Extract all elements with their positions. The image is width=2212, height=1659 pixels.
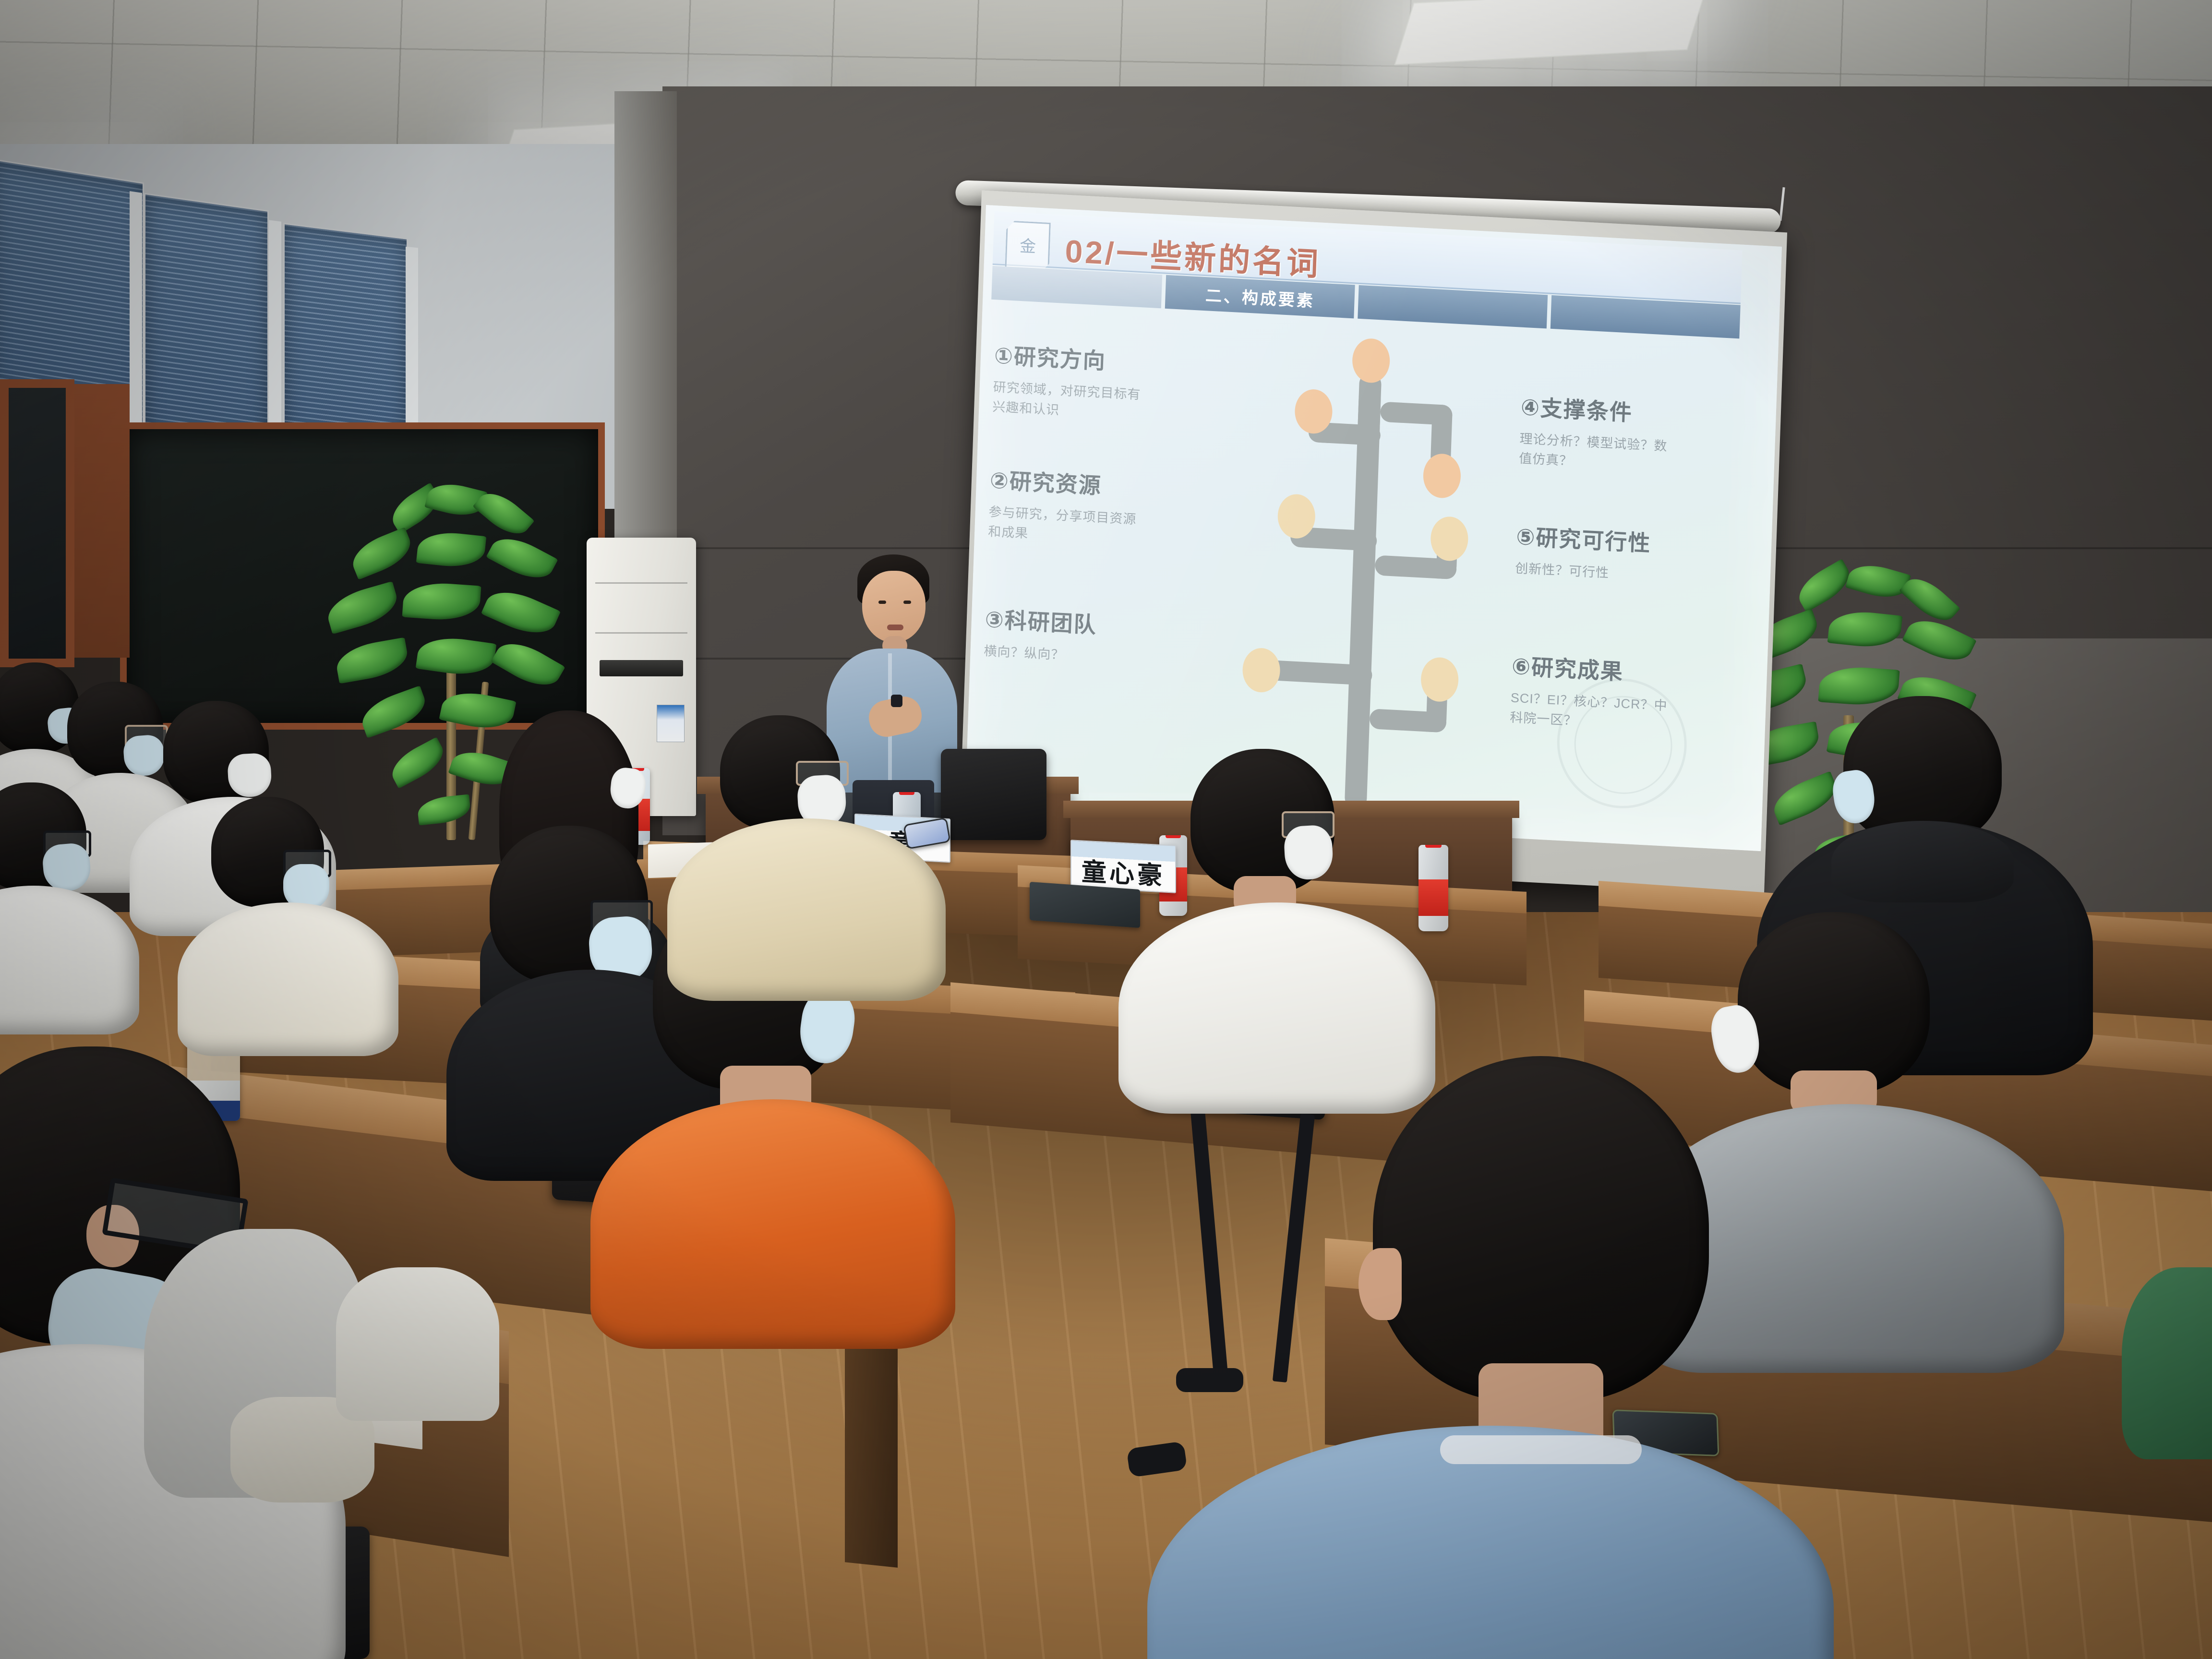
collar (1440, 1435, 1642, 1464)
wristwatch (891, 695, 902, 707)
student-left-mid-2 (0, 782, 149, 1008)
classroom-photo: 金 02/一些新的名词 二、构成要素 (0, 0, 2212, 1659)
student-left-mid-3 (192, 797, 394, 1022)
chair[interactable] (941, 749, 1046, 840)
student-shirt (0, 886, 139, 1034)
student-jacket (178, 902, 398, 1056)
ear (1358, 1248, 1402, 1320)
hood (1831, 821, 2014, 902)
student-jacket (667, 818, 946, 1001)
door-frame (72, 384, 130, 658)
student-front-blue (1171, 1056, 1834, 1659)
door-glass (0, 379, 74, 667)
student-tshirt (590, 1099, 955, 1349)
student-behind-desk (336, 1267, 499, 1421)
student-white-tee (1123, 749, 1431, 1085)
student-beige-jacket (691, 715, 941, 965)
